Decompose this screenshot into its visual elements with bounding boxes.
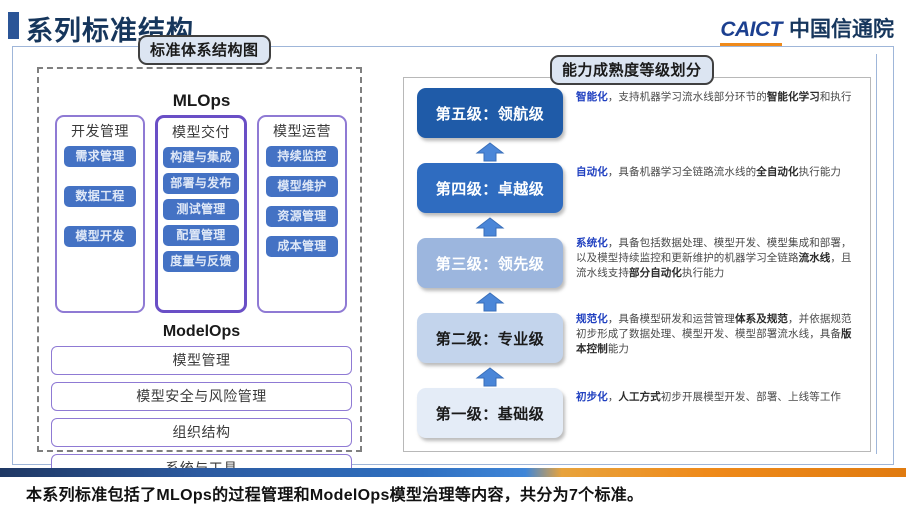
desc-keyword: 自动化 <box>576 166 608 178</box>
modelops-item[interactable]: 模型管理 <box>51 346 352 375</box>
up-arrow-icon <box>475 292 505 312</box>
maturity-level-1[interactable]: 第一级：基础级 <box>417 388 563 438</box>
desc-mid: ，具备模型研发和运营管理 <box>608 313 735 325</box>
capability-chip[interactable]: 配置管理 <box>163 225 239 246</box>
desc-tail: 执行能力 <box>799 166 841 178</box>
desc-mid: ， <box>608 391 619 403</box>
level-label: 第五级：领航级 <box>436 103 545 124</box>
mlops-column-model-delivery: 模型交付 构建与集成 部署与发布 测试管理 配置管理 度量与反馈 <box>155 115 247 313</box>
footer-gradient-bar <box>0 468 906 477</box>
mlops-column-model-operation: 模型运营 持续监控 模型维护 资源管理 成本管理 <box>257 115 347 313</box>
capability-chip[interactable]: 资源管理 <box>266 206 338 227</box>
desc-mid: ，支持机器学习流水线部分环节的 <box>608 91 767 103</box>
level-label: 第三级：领先级 <box>436 253 545 274</box>
level-label: 第二级：专业级 <box>436 328 545 349</box>
frame-right-divider <box>876 54 877 454</box>
level-label: 第一级：基础级 <box>436 403 545 424</box>
capability-chip[interactable]: 需求管理 <box>64 146 136 167</box>
capability-chip[interactable]: 成本管理 <box>266 236 338 257</box>
level-description-2: 规范化，具备模型研发和运营管理体系及规范，并依据规范初步形成了数据处理、模型开发… <box>576 312 862 357</box>
mlops-column-dev-management: 开发管理 需求管理 数据工程 模型开发 <box>55 115 145 313</box>
right-panel-caption: 能力成熟度等级划分 <box>550 55 714 85</box>
level-label: 第四级：卓越级 <box>436 178 545 199</box>
capability-chip[interactable]: 数据工程 <box>64 186 136 207</box>
desc-emph: 智能化学习 <box>767 91 820 103</box>
maturity-level-4[interactable]: 第四级：卓越级 <box>417 163 563 213</box>
level-description-4: 自动化，具备机器学习全链路流水线的全自动化执行能力 <box>576 165 862 180</box>
title-accent-bar <box>8 12 19 39</box>
desc-tail-2: 执行能力 <box>682 267 724 279</box>
column-head-label: 开发管理 <box>57 121 143 141</box>
column-head-label: 模型交付 <box>158 122 244 142</box>
desc-mid: ，具备机器学习全链路流水线的 <box>608 166 756 178</box>
desc-tail: 和执行 <box>820 91 852 103</box>
capability-chip[interactable]: 模型开发 <box>64 226 136 247</box>
mlops-heading: MLOps <box>39 91 364 111</box>
desc-emph: 人工方式 <box>618 391 660 403</box>
level-description-5: 智能化，支持机器学习流水线部分环节的智能化学习和执行 <box>576 90 862 105</box>
desc-keyword: 系统化 <box>576 237 608 249</box>
modelops-item[interactable]: 模型安全与风险管理 <box>51 382 352 411</box>
capability-chip[interactable]: 测试管理 <box>163 199 239 220</box>
up-arrow-icon <box>475 367 505 387</box>
up-arrow-icon <box>475 142 505 162</box>
slide-root: 系列标准结构 CAICT 中国信通院 MLOps 开发管理 需求管理 数据工程 … <box>0 0 906 512</box>
maturity-level-5[interactable]: 第五级：领航级 <box>417 88 563 138</box>
maturity-level-3[interactable]: 第三级：领先级 <box>417 238 563 288</box>
logo-chinese-text: 中国信通院 <box>789 13 894 43</box>
left-panel-caption: 标准体系结构图 <box>138 35 271 65</box>
desc-tail-2: 能力 <box>608 343 629 355</box>
desc-emph: 体系及规范 <box>735 313 788 325</box>
logo-mark-text: CAICT <box>720 18 782 46</box>
slide-header: 系列标准结构 CAICT 中国信通院 <box>0 0 906 46</box>
desc-emph: 全自动化 <box>756 166 798 178</box>
standard-architecture-panel: MLOps 开发管理 需求管理 数据工程 模型开发 模型交付 构建与集成 部署与… <box>37 67 362 452</box>
desc-keyword: 初步化 <box>576 391 608 403</box>
maturity-level-2[interactable]: 第二级：专业级 <box>417 313 563 363</box>
desc-keyword: 规范化 <box>576 313 608 325</box>
desc-emph-2: 部分自动化 <box>629 267 682 279</box>
maturity-descriptions-column: 智能化，支持机器学习流水线部分环节的智能化学习和执行 自动化，具备机器学习全链路… <box>576 88 862 443</box>
capability-chip[interactable]: 持续监控 <box>266 146 338 167</box>
maturity-level-panel: 第五级：领航级 第四级：卓越级 第三级：领先级 <box>403 77 871 452</box>
column-head-label: 模型运营 <box>259 121 345 141</box>
desc-tail: 初步开展模型开发、部署、上线等工作 <box>661 391 841 403</box>
desc-keyword: 智能化 <box>576 91 608 103</box>
up-arrow-icon <box>475 217 505 237</box>
content-frame: MLOps 开发管理 需求管理 数据工程 模型开发 模型交付 构建与集成 部署与… <box>12 46 894 465</box>
modelops-item[interactable]: 组织结构 <box>51 418 352 447</box>
desc-emph: 流水线 <box>799 252 831 264</box>
capability-chip[interactable]: 模型维护 <box>266 176 338 197</box>
capability-chip[interactable]: 构建与集成 <box>163 147 239 168</box>
caict-logo: CAICT 中国信通院 <box>720 13 894 46</box>
capability-chip[interactable]: 度量与反馈 <box>163 251 239 272</box>
level-description-3: 系统化，具备包括数据处理、模型开发、模型集成和部署，以及模型持续监控和更新维护的… <box>576 236 862 281</box>
footer-caption: 本系列标准包括了MLOps的过程管理和ModelOps模型治理等内容，共分为7个… <box>26 481 643 505</box>
modelops-heading: ModelOps <box>39 323 364 341</box>
level-description-1: 初步化，人工方式初步开展模型开发、部署、上线等工作 <box>576 390 862 405</box>
capability-chip[interactable]: 部署与发布 <box>163 173 239 194</box>
maturity-levels-column: 第五级：领航级 第四级：卓越级 第三级：领先级 <box>417 88 569 443</box>
